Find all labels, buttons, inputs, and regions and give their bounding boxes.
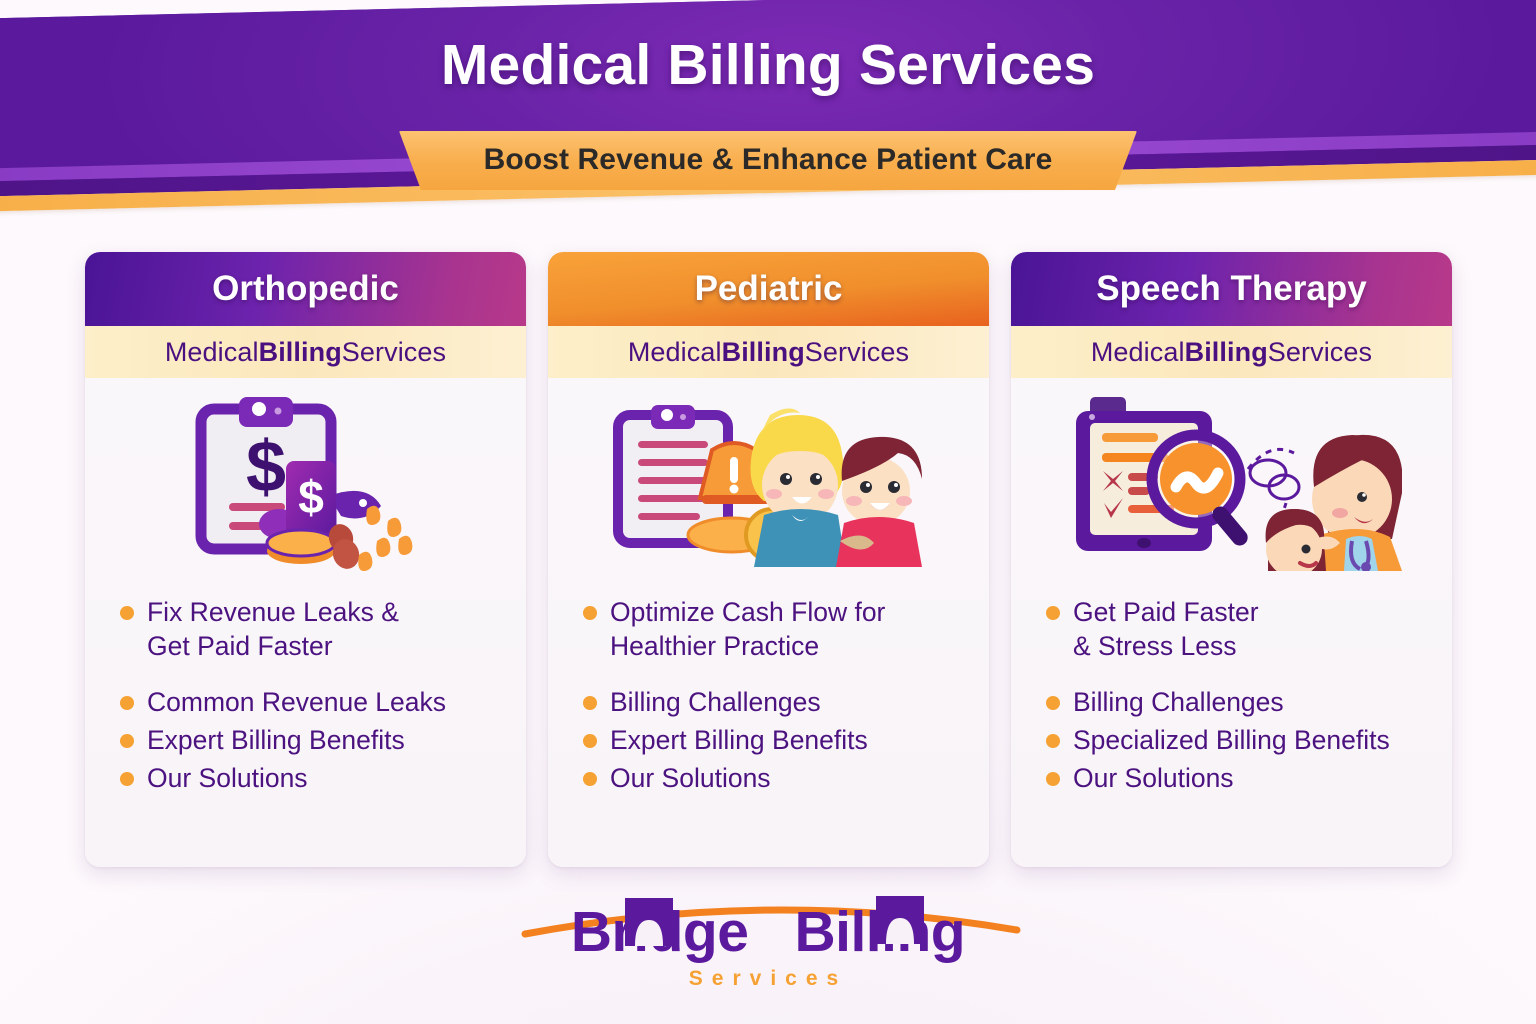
clipboard-children-coin-alert-illustration: $	[548, 378, 989, 583]
service-card-pediatric[interactable]: Pediatric Medical Billing Services	[548, 252, 989, 867]
list-item-label: Billing Challenges	[1073, 685, 1284, 719]
card-subtitle-post: Services	[805, 337, 909, 368]
bullet-dot-icon	[1046, 772, 1060, 786]
bullet-dot-icon	[583, 696, 597, 710]
service-cards-container: Orthopedic Medical Billing Services $ $	[85, 252, 1453, 867]
clipboard-magnifier-therapist-child-illustration	[1011, 378, 1452, 583]
service-card-orthopedic[interactable]: Orthopedic Medical Billing Services $ $	[85, 252, 526, 867]
bridge-pier-left-icon	[621, 894, 677, 956]
card-subtitle-post: Services	[1268, 337, 1372, 368]
card-bullet-list: Get Paid Faster& Stress Less Billing Cha…	[1011, 583, 1452, 795]
card-bullet-list: Optimize Cash Flow forHealthier Practice…	[548, 583, 989, 795]
list-item[interactable]: Our Solutions	[113, 761, 526, 795]
card-header-speech-therapy: Speech Therapy	[1011, 252, 1452, 326]
bullet-dot-icon	[583, 772, 597, 786]
list-item[interactable]: Expert Billing Benefits	[113, 723, 526, 757]
card-header-pediatric: Pediatric	[548, 252, 989, 326]
page-header: Medical Billing Services Boost Revenue &…	[0, 0, 1536, 215]
clipboard-dollar-revenue-leak-illustration: $ $	[85, 378, 526, 583]
card-title: Speech Therapy	[1096, 269, 1366, 309]
list-item[interactable]: Expert Billing Benefits	[576, 723, 989, 757]
list-item-label: Specialized Billing Benefits	[1073, 723, 1390, 757]
bullet-dot-icon	[120, 734, 134, 748]
card-subtitle: Medical Billing Services	[85, 326, 526, 378]
list-item[interactable]: Specialized Billing Benefits	[1039, 723, 1452, 757]
list-item-label: Get Paid Faster& Stress Less	[1073, 595, 1259, 663]
list-item-label: Fix Revenue Leaks &Get Paid Faster	[147, 595, 399, 663]
card-header-orthopedic: Orthopedic	[85, 252, 526, 326]
card-subtitle-bold: Billing	[1185, 337, 1268, 368]
list-item[interactable]: Our Solutions	[1039, 761, 1452, 795]
bullet-dot-icon	[1046, 734, 1060, 748]
service-card-speech-therapy[interactable]: Speech Therapy Medical Billing Services	[1011, 252, 1452, 867]
list-item-label: Billing Challenges	[610, 685, 821, 719]
list-item-label: Our Solutions	[147, 761, 308, 795]
bullet-dot-icon	[583, 734, 597, 748]
list-item-label: Common Revenue Leaks	[147, 685, 446, 719]
list-item[interactable]: Optimize Cash Flow forHealthier Practice	[576, 595, 989, 663]
bullet-dot-icon	[1046, 696, 1060, 710]
card-subtitle: Medical Billing Services	[1011, 326, 1452, 378]
bullet-dot-icon	[1046, 606, 1060, 620]
ribbon-label: Boost Revenue & Enhance Patient Care	[399, 131, 1137, 190]
card-subtitle-bold: Billing	[259, 337, 342, 368]
card-subtitle: Medical Billing Services	[548, 326, 989, 378]
card-subtitle-pre: Medical	[1091, 337, 1185, 368]
list-item-label: Expert Billing Benefits	[610, 723, 868, 757]
list-item[interactable]: Our Solutions	[576, 761, 989, 795]
list-item-label: Optimize Cash Flow forHealthier Practice	[610, 595, 885, 663]
list-item[interactable]: Fix Revenue Leaks &Get Paid Faster	[113, 595, 526, 663]
list-item-label: Expert Billing Benefits	[147, 723, 405, 757]
card-title: Orthopedic	[212, 269, 399, 309]
card-subtitle-pre: Medical	[165, 337, 259, 368]
list-item[interactable]: Common Revenue Leaks	[113, 685, 526, 719]
bullet-dot-icon	[120, 772, 134, 786]
card-subtitle-bold: Billing	[722, 337, 805, 368]
bridge-pier-right-icon	[872, 892, 928, 954]
company-logo[interactable]: Bridge Billing Services	[0, 898, 1536, 991]
svg-text:$: $	[298, 471, 324, 523]
list-item[interactable]: Billing Challenges	[1039, 685, 1452, 719]
svg-text:$: $	[245, 427, 285, 507]
list-item-label: Our Solutions	[1073, 761, 1234, 795]
list-item[interactable]: Billing Challenges	[576, 685, 989, 719]
list-item[interactable]: Get Paid Faster& Stress Less	[1039, 595, 1452, 663]
list-item-label: Our Solutions	[610, 761, 771, 795]
bullet-dot-icon	[583, 606, 597, 620]
card-bullet-list: Fix Revenue Leaks &Get Paid Faster Commo…	[85, 583, 526, 795]
card-title: Pediatric	[695, 269, 843, 309]
bullet-dot-icon	[120, 606, 134, 620]
bullet-dot-icon	[120, 696, 134, 710]
card-subtitle-pre: Medical	[628, 337, 722, 368]
subtitle-ribbon: Boost Revenue & Enhance Patient Care	[399, 131, 1137, 190]
page-title: Medical Billing Services	[0, 32, 1536, 98]
logo-tagline: Services	[571, 967, 965, 991]
card-subtitle-post: Services	[342, 337, 446, 368]
